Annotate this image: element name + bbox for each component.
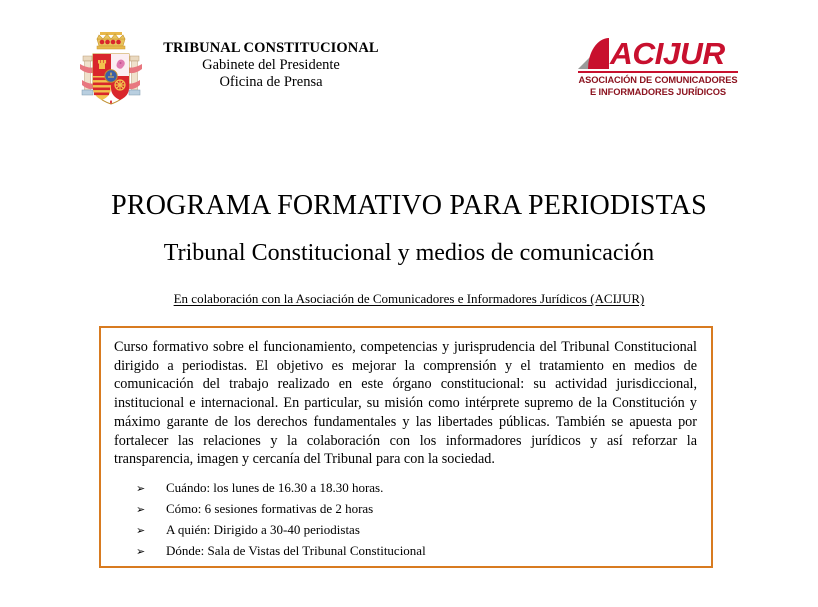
collaboration-note: En colaboración con la Asociación de Com… xyxy=(174,291,645,307)
acijur-subtitle-line1: ASOCIACIÓN DE COMUNICADORES xyxy=(578,75,738,87)
program-description-text: Curso formativo sobre el funcionamiento,… xyxy=(114,338,697,469)
acijur-mark-icon xyxy=(578,38,609,69)
list-item-label: Dónde: Sala de Vistas del Tribunal Const… xyxy=(166,544,697,557)
list-item-label: A quién: Dirigido a 30-40 periodistas xyxy=(166,523,697,536)
institution-office: Gabinete del Presidente xyxy=(146,57,396,74)
acijur-wordmark: ACIJUR xyxy=(610,38,725,69)
acijur-divider-rule xyxy=(578,71,738,73)
list-item: ➢ A quién: Dirigido a 30-40 periodistas xyxy=(114,523,697,536)
acijur-wordmark-row: ACIJUR xyxy=(578,38,738,70)
arrow-bullet-icon: ➢ xyxy=(114,504,166,515)
page-subtitle: Tribunal Constitucional y medios de comu… xyxy=(0,240,818,267)
list-item: ➢ Dónde: Sala de Vistas del Tribunal Con… xyxy=(114,544,697,557)
list-item-label: Cuándo: los lunes de 16.30 a 18.30 horas… xyxy=(166,481,697,494)
spanish-coat-of-arms-icon xyxy=(78,30,144,110)
program-description-box: Curso formativo sobre el funcionamiento,… xyxy=(99,326,713,568)
acijur-subtitle-line2: E INFORMADORES JURÍDICOS xyxy=(578,87,738,99)
list-item-label: Cómo: 6 sesiones formativas de 2 horas xyxy=(166,502,697,515)
institution-name: TRIBUNAL CONSTITUCIONAL xyxy=(146,40,396,57)
list-item: ➢ Cuándo: los lunes de 16.30 a 18.30 hor… xyxy=(114,481,697,494)
acijur-subtitle: ASOCIACIÓN DE COMUNICADORES E INFORMADOR… xyxy=(578,75,738,99)
institution-title-block: TRIBUNAL CONSTITUCIONAL Gabinete del Pre… xyxy=(146,40,396,90)
acijur-logo: ACIJUR ASOCIACIÓN DE COMUNICADORES E INF… xyxy=(578,38,738,106)
arrow-bullet-icon: ➢ xyxy=(114,483,166,494)
list-item: ➢ Cómo: 6 sesiones formativas de 2 horas xyxy=(114,502,697,515)
arrow-bullet-icon: ➢ xyxy=(114,546,166,557)
arrow-bullet-icon: ➢ xyxy=(114,525,166,536)
collaboration-line-wrapper: En colaboración con la Asociación de Com… xyxy=(0,290,818,308)
institution-department: Oficina de Prensa xyxy=(146,74,396,91)
document-header: TRIBUNAL CONSTITUCIONAL Gabinete del Pre… xyxy=(0,0,818,125)
page-title: PROGRAMA FORMATIVO PARA PERIODISTAS xyxy=(0,190,818,222)
program-details-list: ➢ Cuándo: los lunes de 16.30 a 18.30 hor… xyxy=(114,481,697,557)
